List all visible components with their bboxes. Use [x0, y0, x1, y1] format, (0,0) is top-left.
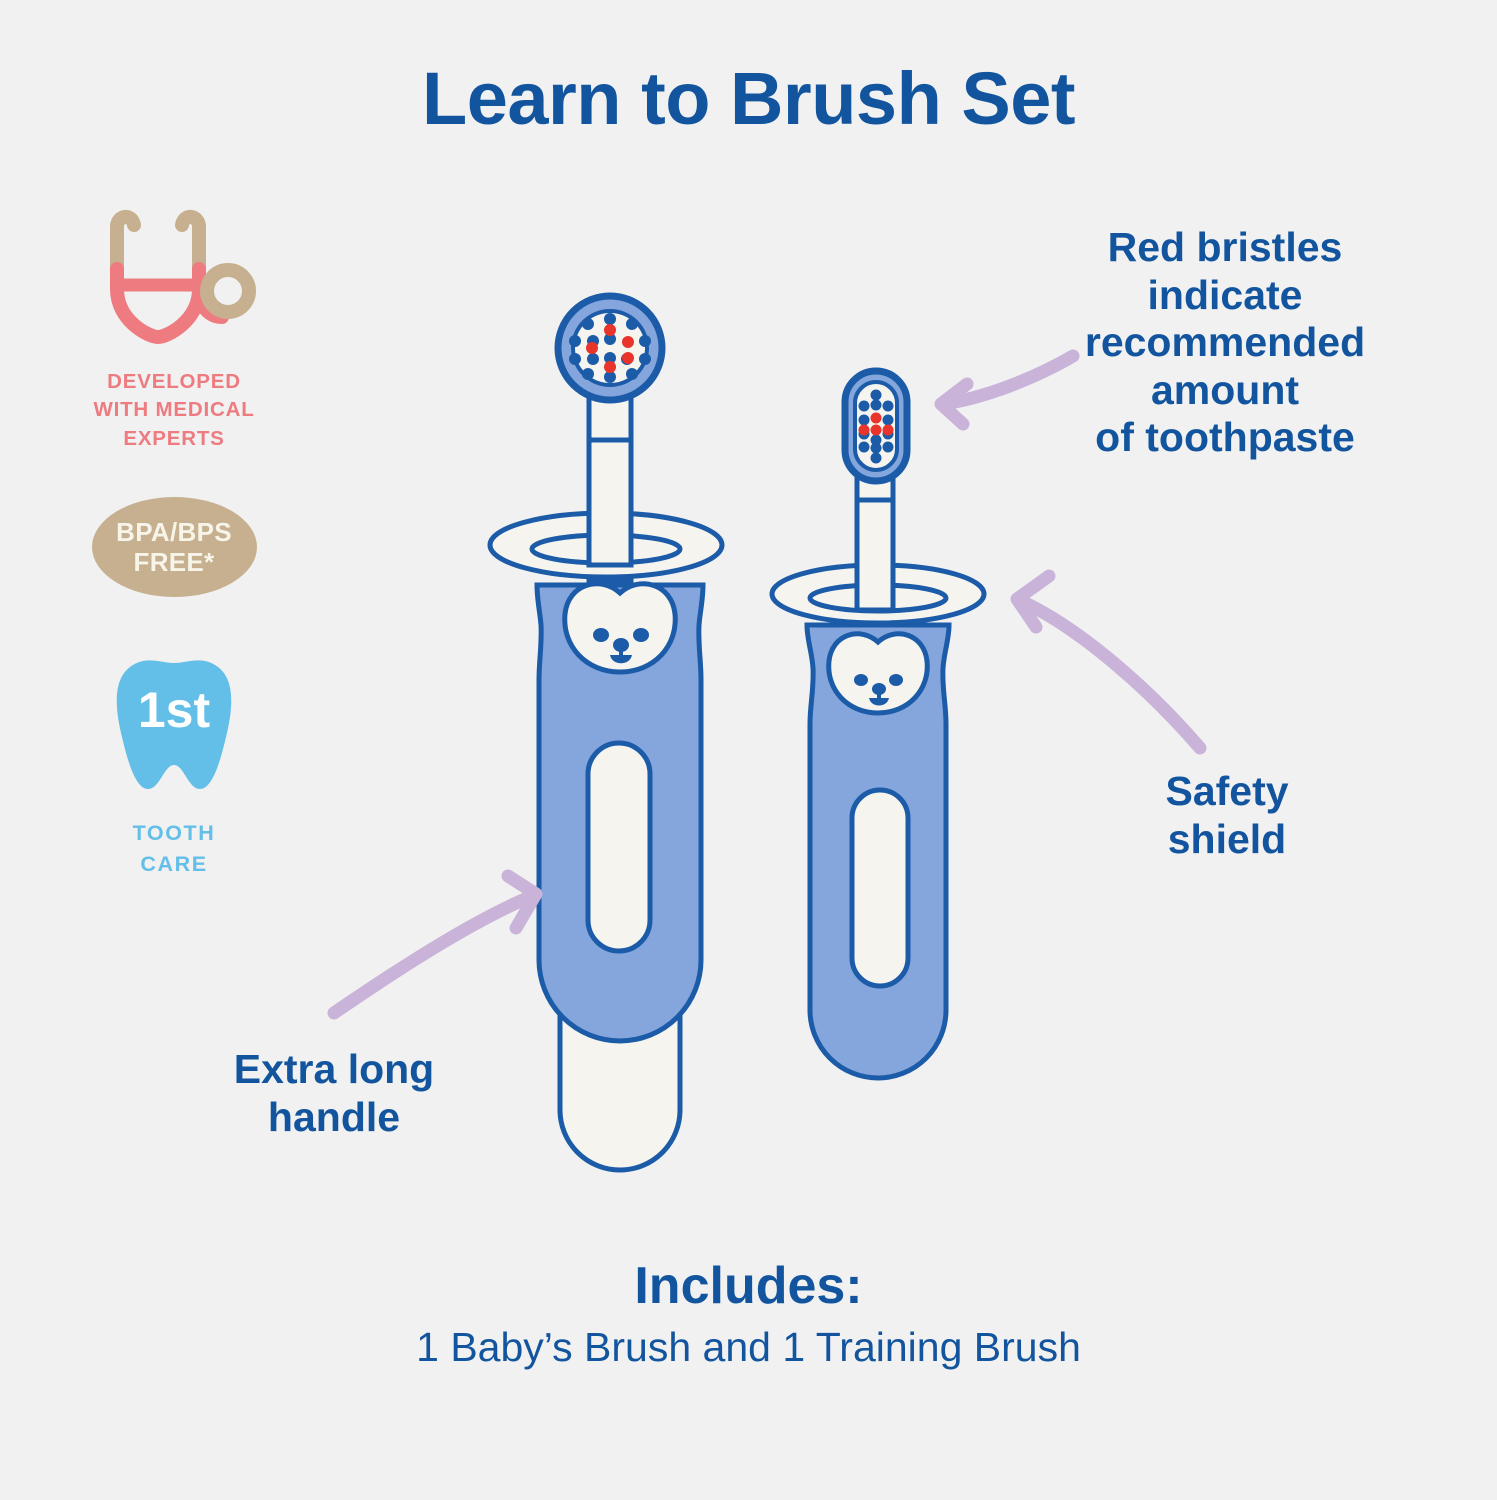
callout-bristles-line-4: amount — [1005, 367, 1445, 415]
bear-eye-right — [633, 628, 649, 642]
includes-heading: Includes: — [0, 1258, 1497, 1315]
training-brush-handle — [807, 625, 949, 1078]
baby-brush-neck — [589, 360, 631, 580]
arrow-to-handle-icon — [334, 876, 536, 1013]
badge-first-tooth-care: 1st TOOTH CARE — [48, 653, 300, 880]
badge-medical-caption-line-3: EXPERTS — [48, 425, 300, 453]
badge-tooth-caption-line-1: TOOTH — [48, 818, 300, 849]
badge-medical-caption: DEVELOPED WITH MEDICAL EXPERTS — [48, 368, 300, 453]
arrow-to-safety-shield-icon — [1017, 576, 1200, 748]
callout-bristles-line-2: indicate — [1005, 272, 1445, 320]
badge-column: DEVELOPED WITH MEDICAL EXPERTS BPA/BPS F… — [48, 205, 300, 880]
baby-brush-bear-face — [565, 584, 676, 672]
page-title: Learn to Brush Set — [0, 62, 1497, 136]
training-brush-red-bristles — [859, 413, 894, 436]
babys-brush-illustration — [490, 296, 722, 1170]
stethoscope-icon — [86, 205, 262, 357]
callout-shield-line-1: Safety — [1087, 768, 1367, 816]
badge-bpa-bps-free: BPA/BPS FREE* — [48, 497, 300, 597]
callout-extra-long-handle: Extra long handle — [184, 1046, 484, 1141]
baby-brush-grip — [537, 585, 703, 1041]
tooth-icon: 1st — [106, 653, 242, 803]
baby-brush-handle-lower — [560, 760, 680, 1170]
baby-brush-head — [558, 296, 662, 400]
baby-brush-safety-shield — [490, 513, 722, 577]
callout-shield-line-2: shield — [1087, 816, 1367, 864]
bear-nose — [613, 638, 629, 652]
includes-detail: 1 Baby’s Brush and 1 Training Brush — [0, 1323, 1497, 1372]
callout-handle-line-1: Extra long — [184, 1046, 484, 1094]
badge-medical-caption-line-2: WITH MEDICAL — [48, 396, 300, 424]
baby-brush-red-bristles — [586, 324, 634, 373]
bear-mouth — [869, 698, 889, 706]
bear-eye-right — [889, 674, 903, 686]
callout-bristles-line-1: Red bristles — [1005, 224, 1445, 272]
callout-safety-shield: Safety shield — [1087, 768, 1367, 863]
training-brush-safety-shield — [772, 565, 984, 623]
training-brush-head — [845, 371, 907, 481]
bear-mouth — [610, 655, 632, 663]
badge-bpa-line-2: FREE* — [134, 547, 215, 577]
baby-brush-blue-bristles — [569, 313, 651, 383]
includes-block: Includes: 1 Baby’s Brush and 1 Training … — [0, 1258, 1497, 1372]
training-brush-neck-front — [857, 500, 893, 610]
badge-bpa-line-1: BPA/BPS — [116, 517, 232, 547]
infographic-page: Learn to Brush Set DEVELOPED — [0, 0, 1497, 1500]
training-brush-grip-window — [852, 790, 908, 986]
badge-tooth-caption: TOOTH CARE — [48, 818, 300, 880]
callout-bristles-line-5: of toothpaste — [1005, 414, 1445, 462]
badge-developed-with-medical-experts: DEVELOPED WITH MEDICAL EXPERTS — [48, 205, 300, 453]
training-brush-bear-face — [829, 634, 928, 713]
training-brush-blue-bristles — [859, 390, 894, 464]
bear-nose — [872, 683, 886, 695]
callout-red-bristles: Red bristles indicate recommended amount… — [1005, 224, 1445, 462]
training-brush-neck — [857, 455, 893, 615]
bear-eye-left — [854, 674, 868, 686]
tooth-badge-number: 1st — [138, 682, 211, 738]
badge-bpa-pill: BPA/BPS FREE* — [92, 497, 257, 597]
training-brush-illustration — [772, 371, 984, 1078]
callout-bristles-line-3: recommended — [1005, 319, 1445, 367]
badge-tooth-caption-line-2: CARE — [48, 849, 300, 880]
badge-medical-caption-line-1: DEVELOPED — [48, 368, 300, 396]
callout-handle-line-2: handle — [184, 1094, 484, 1142]
baby-brush-grip-window — [588, 743, 650, 951]
bear-eye-left — [593, 628, 609, 642]
baby-brush-neck-front — [589, 440, 631, 565]
